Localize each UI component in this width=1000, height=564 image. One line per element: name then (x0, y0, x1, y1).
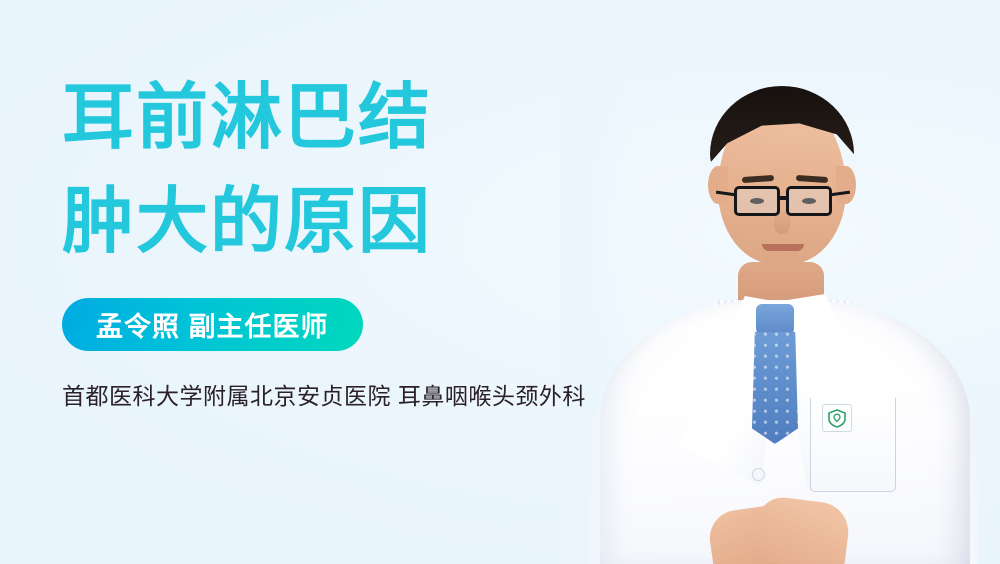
doctor-affiliation: 首都医科大学附属北京安贞医院 耳鼻咽喉头颈外科 (62, 377, 622, 411)
ear-right (836, 166, 856, 204)
necktie (752, 332, 798, 444)
doctor-portrait (560, 0, 1000, 564)
eyeglasses-bridge (778, 196, 788, 200)
eyeglasses-lens-right (786, 186, 832, 216)
video-cover-card: 耳前淋巴结 肿大的原因 孟令照 副主任医师 首都医科大学附属北京安贞医院 耳鼻咽… (0, 0, 1000, 564)
page-title-line-2: 肿大的原因 (62, 186, 622, 258)
cover-text-block: 耳前淋巴结 肿大的原因 孟令照 副主任医师 首都医科大学附属北京安贞医院 耳鼻咽… (62, 82, 622, 411)
coat-button (752, 468, 765, 481)
page-title-line-1: 耳前淋巴结 (62, 82, 622, 154)
ear-left (708, 166, 728, 204)
eyeglasses-lens-left (734, 186, 780, 216)
hospital-emblem-icon (822, 404, 852, 432)
mouth (762, 244, 804, 251)
doctor-name-badge: 孟令照 副主任医师 (62, 298, 363, 351)
